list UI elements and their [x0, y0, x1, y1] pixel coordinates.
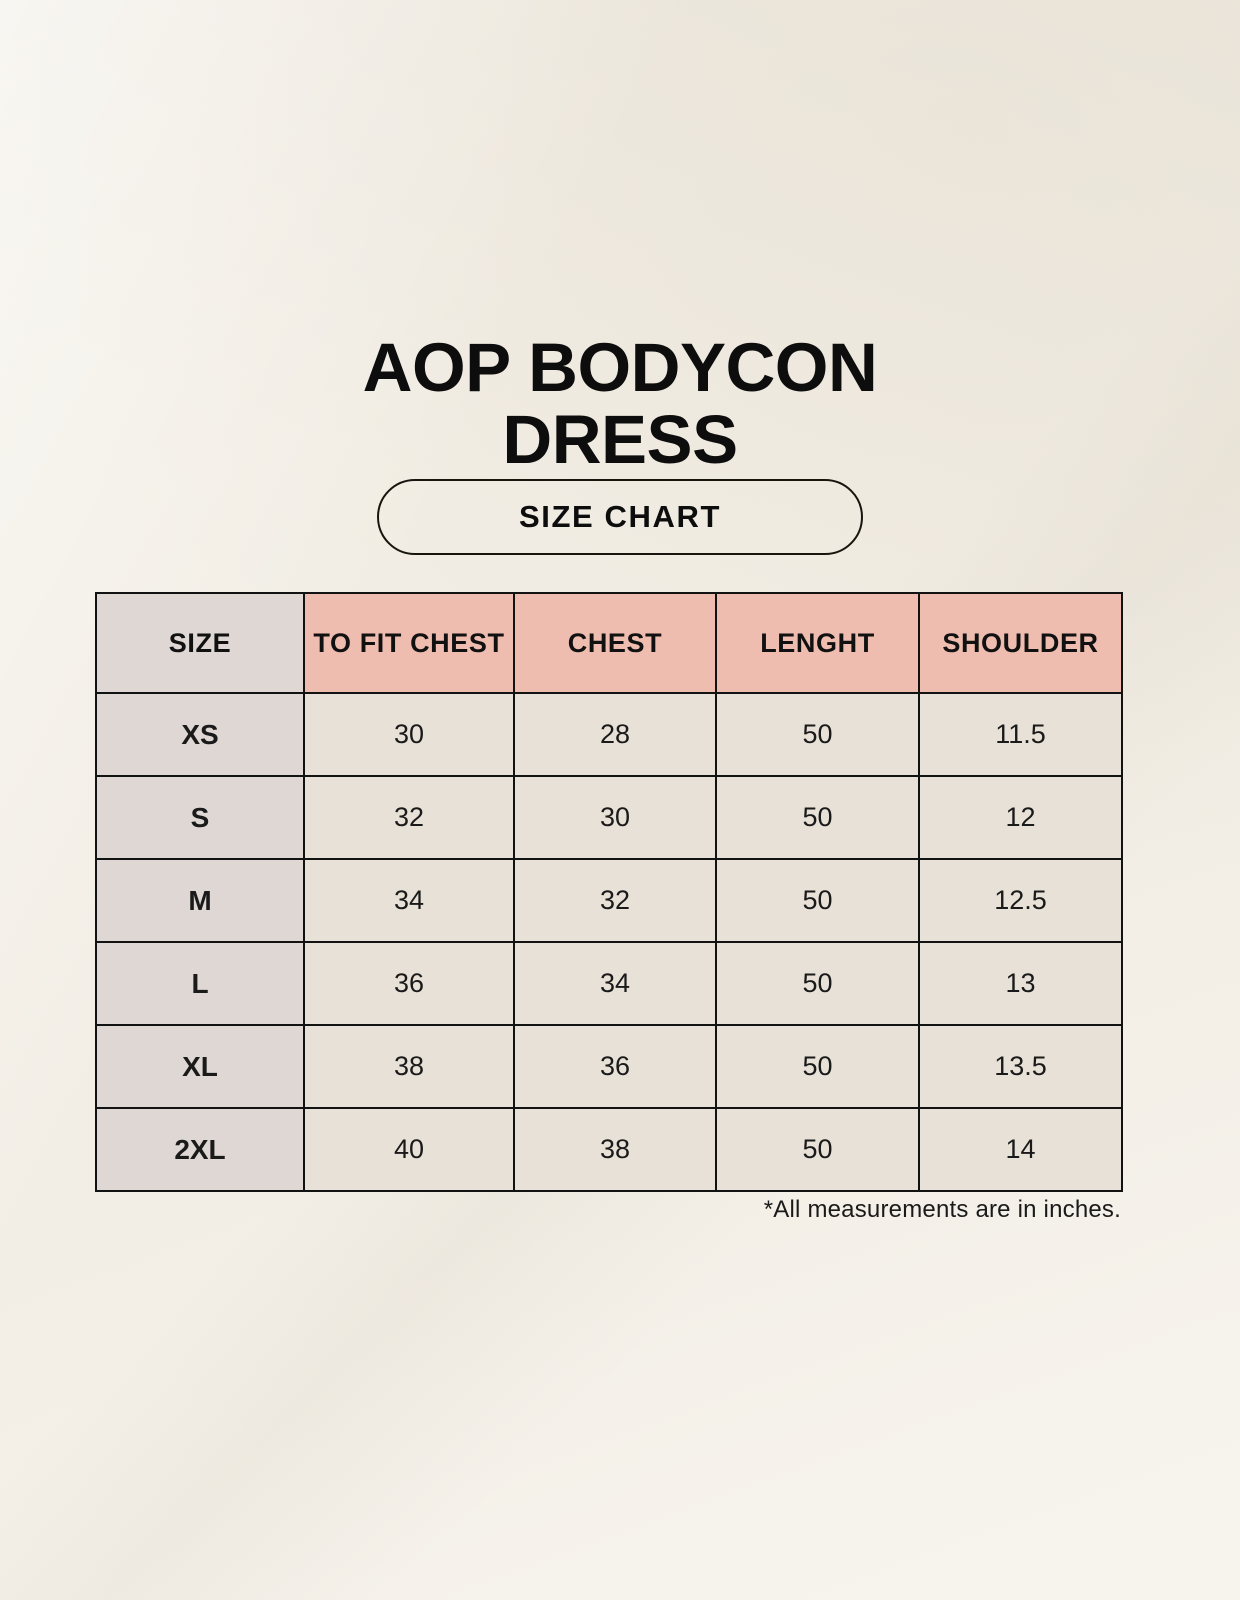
column-header-chest: CHEST: [514, 593, 716, 693]
cell-chest: 38: [514, 1108, 716, 1191]
measurement-units-note: *All measurements are in inches.: [95, 1196, 1121, 1224]
cell-shoulder: 12.5: [919, 859, 1122, 942]
cell-lenght: 50: [716, 776, 919, 859]
page-title: AOP BODYCON DRESS: [0, 332, 1240, 476]
size-chart-badge: SIZE CHART: [377, 479, 863, 555]
size-table-head: SIZE TO FIT CHEST CHEST LENGHT SHOULDER: [96, 593, 1122, 693]
cell-lenght: 50: [716, 942, 919, 1025]
column-header-to-fit-chest: TO FIT CHEST: [304, 593, 514, 693]
cell-lenght: 50: [716, 693, 919, 776]
table-row: XL 38 36 50 13.5: [96, 1025, 1122, 1108]
cell-size: XL: [96, 1025, 304, 1108]
size-chart-page: AOP BODYCON DRESS SIZE CHART SIZE TO FIT…: [0, 0, 1240, 1600]
cell-to-fit-chest: 38: [304, 1025, 514, 1108]
cell-lenght: 50: [716, 1108, 919, 1191]
cell-lenght: 50: [716, 859, 919, 942]
cell-to-fit-chest: 34: [304, 859, 514, 942]
table-row: L 36 34 50 13: [96, 942, 1122, 1025]
cell-chest: 30: [514, 776, 716, 859]
table-header-row: SIZE TO FIT CHEST CHEST LENGHT SHOULDER: [96, 593, 1122, 693]
table-row: 2XL 40 38 50 14: [96, 1108, 1122, 1191]
cell-lenght: 50: [716, 1025, 919, 1108]
cell-shoulder: 14: [919, 1108, 1122, 1191]
cell-size: 2XL: [96, 1108, 304, 1191]
cell-chest: 28: [514, 693, 716, 776]
cell-size: S: [96, 776, 304, 859]
cell-to-fit-chest: 40: [304, 1108, 514, 1191]
table-row: M 34 32 50 12.5: [96, 859, 1122, 942]
cell-shoulder: 13.5: [919, 1025, 1122, 1108]
column-header-size: SIZE: [96, 593, 304, 693]
cell-shoulder: 13: [919, 942, 1122, 1025]
cell-size: L: [96, 942, 304, 1025]
table-row: XS 30 28 50 11.5: [96, 693, 1122, 776]
table-row: S 32 30 50 12: [96, 776, 1122, 859]
cell-size: M: [96, 859, 304, 942]
column-header-lenght: LENGHT: [716, 593, 919, 693]
cell-to-fit-chest: 32: [304, 776, 514, 859]
cell-chest: 32: [514, 859, 716, 942]
cell-shoulder: 12: [919, 776, 1122, 859]
cell-size: XS: [96, 693, 304, 776]
cell-chest: 36: [514, 1025, 716, 1108]
size-chart-badge-container: SIZE CHART: [0, 479, 1240, 555]
cell-to-fit-chest: 36: [304, 942, 514, 1025]
size-table-container: SIZE TO FIT CHEST CHEST LENGHT SHOULDER …: [95, 592, 1121, 1192]
column-header-shoulder: SHOULDER: [919, 593, 1122, 693]
cell-shoulder: 11.5: [919, 693, 1122, 776]
size-table: SIZE TO FIT CHEST CHEST LENGHT SHOULDER …: [95, 592, 1123, 1192]
size-table-body: XS 30 28 50 11.5 S 32 30 50 12 M 34 32: [96, 693, 1122, 1191]
cell-to-fit-chest: 30: [304, 693, 514, 776]
cell-chest: 34: [514, 942, 716, 1025]
